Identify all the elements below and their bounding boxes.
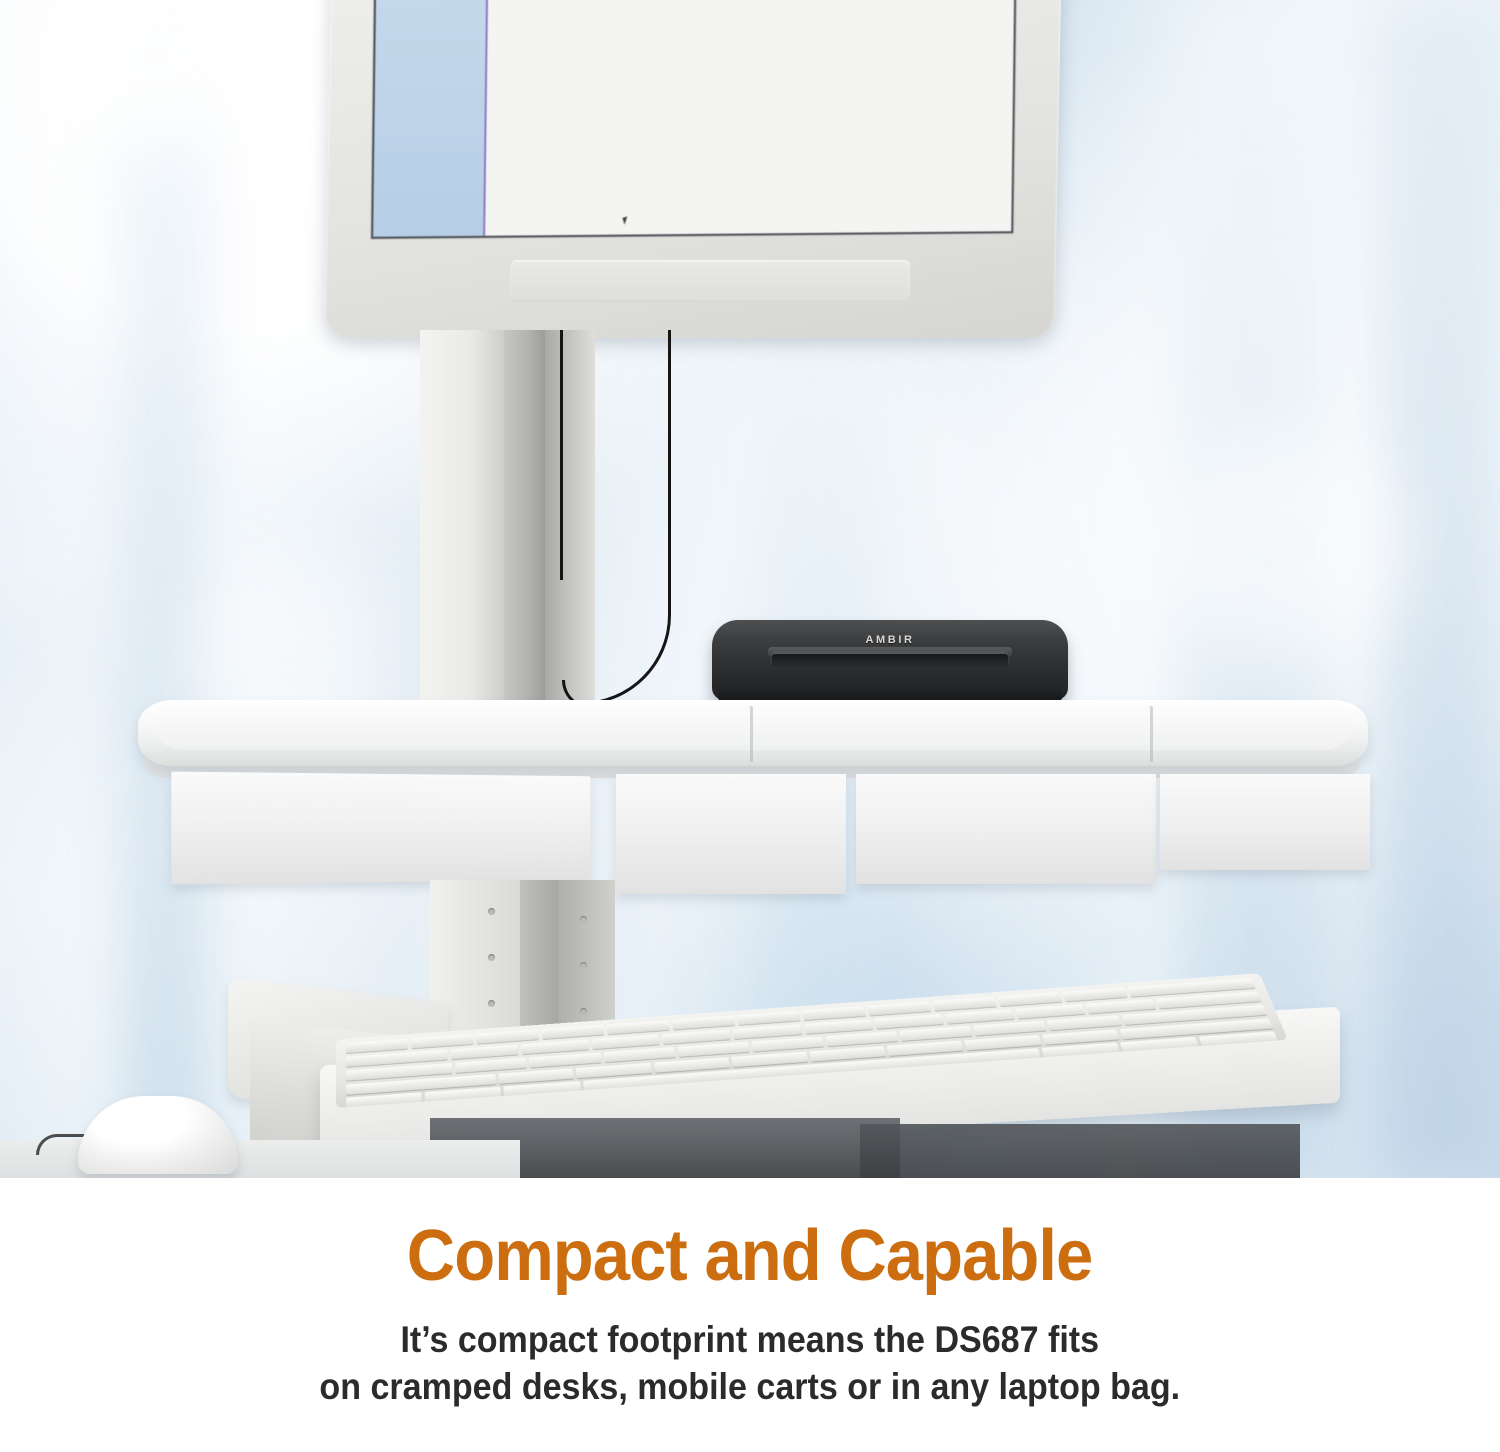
key[interactable] xyxy=(803,1019,873,1034)
key[interactable] xyxy=(529,1052,601,1067)
background-bokeh xyxy=(1150,430,1410,660)
worksurface-seam xyxy=(1150,706,1153,762)
background-blur-band xyxy=(120,0,210,1178)
emr-application: Search Medication Admin Fall precautions… xyxy=(373,0,1017,237)
key[interactable] xyxy=(825,1031,899,1046)
key[interactable] xyxy=(662,1029,731,1044)
key[interactable] xyxy=(677,1042,750,1057)
key[interactable] xyxy=(736,1011,800,1025)
emr-sidebar: Search Medication Admin Fall precautions… xyxy=(373,0,491,237)
document-scanner: AMBIR xyxy=(712,612,1068,712)
cart-drawer[interactable] xyxy=(616,774,846,894)
key[interactable] xyxy=(932,997,997,1011)
page-subtitle: It’s compact footprint means the DS687 f… xyxy=(320,1316,1181,1411)
monitor-cable xyxy=(560,330,671,705)
key[interactable] xyxy=(346,1039,409,1053)
scanner-brand-logo: AMBIR xyxy=(712,634,1068,646)
page-title: Compact and Capable xyxy=(407,1220,1093,1292)
monitor-screen: Search Medication Admin Fall precautions… xyxy=(373,0,1017,237)
key[interactable] xyxy=(603,1047,676,1062)
monitor-bezel-notch xyxy=(510,260,911,302)
key[interactable] xyxy=(450,1044,518,1059)
emr-main-panel: Order Information sodium chloride 0.9% (… xyxy=(485,0,1017,236)
subtitle-line-1: It’s compact footprint means the DS687 f… xyxy=(320,1316,1181,1363)
cart-drawer[interactable] xyxy=(856,774,1156,884)
column-screw xyxy=(488,954,495,961)
key[interactable] xyxy=(1085,999,1156,1014)
cart-worksurface xyxy=(138,700,1368,900)
desk-dark-surface xyxy=(860,1124,1300,1178)
key[interactable] xyxy=(874,1014,944,1029)
key[interactable] xyxy=(591,1034,660,1049)
key[interactable] xyxy=(521,1039,590,1054)
key[interactable] xyxy=(1047,1015,1122,1030)
column-screw xyxy=(488,1000,495,1007)
column-screw xyxy=(580,1008,587,1015)
key[interactable] xyxy=(455,1058,527,1073)
key[interactable] xyxy=(476,1029,539,1043)
worksurface-seam xyxy=(750,706,753,762)
column-screw xyxy=(488,908,495,915)
product-marketing-image: Search Medication Admin Fall precautions… xyxy=(0,0,1500,1452)
key[interactable] xyxy=(1062,987,1128,1001)
column-screw xyxy=(580,916,587,923)
background-bokeh xyxy=(40,0,270,150)
monitor: Search Medication Admin Fall precautions… xyxy=(330,0,1060,338)
key[interactable] xyxy=(867,1001,932,1015)
column-screw xyxy=(580,962,587,969)
key[interactable] xyxy=(899,1026,973,1041)
column-face-mid xyxy=(504,330,545,730)
product-photo: Search Medication Admin Fall precautions… xyxy=(0,0,1500,1178)
key[interactable] xyxy=(1015,1004,1086,1019)
computer-mouse[interactable] xyxy=(78,1096,238,1174)
key[interactable] xyxy=(944,1009,1015,1024)
subtitle-line-2: on cramped desks, mobile carts or in any… xyxy=(320,1363,1181,1410)
key[interactable] xyxy=(751,1036,824,1051)
column-face-left xyxy=(420,330,504,730)
key[interactable] xyxy=(671,1015,735,1029)
worksurface-inner xyxy=(156,704,1350,750)
key[interactable] xyxy=(411,1034,474,1048)
key[interactable] xyxy=(997,992,1062,1006)
key[interactable] xyxy=(732,1024,802,1039)
key[interactable] xyxy=(802,1006,867,1020)
key[interactable] xyxy=(973,1021,1047,1036)
cart-drawer[interactable] xyxy=(171,772,590,885)
scanner-feed-slot xyxy=(772,654,1008,667)
key[interactable] xyxy=(606,1020,670,1034)
key[interactable] xyxy=(541,1025,604,1039)
caption-block: Compact and Capable It’s compact footpri… xyxy=(0,1178,1500,1452)
cart-drawer[interactable] xyxy=(1160,774,1370,870)
